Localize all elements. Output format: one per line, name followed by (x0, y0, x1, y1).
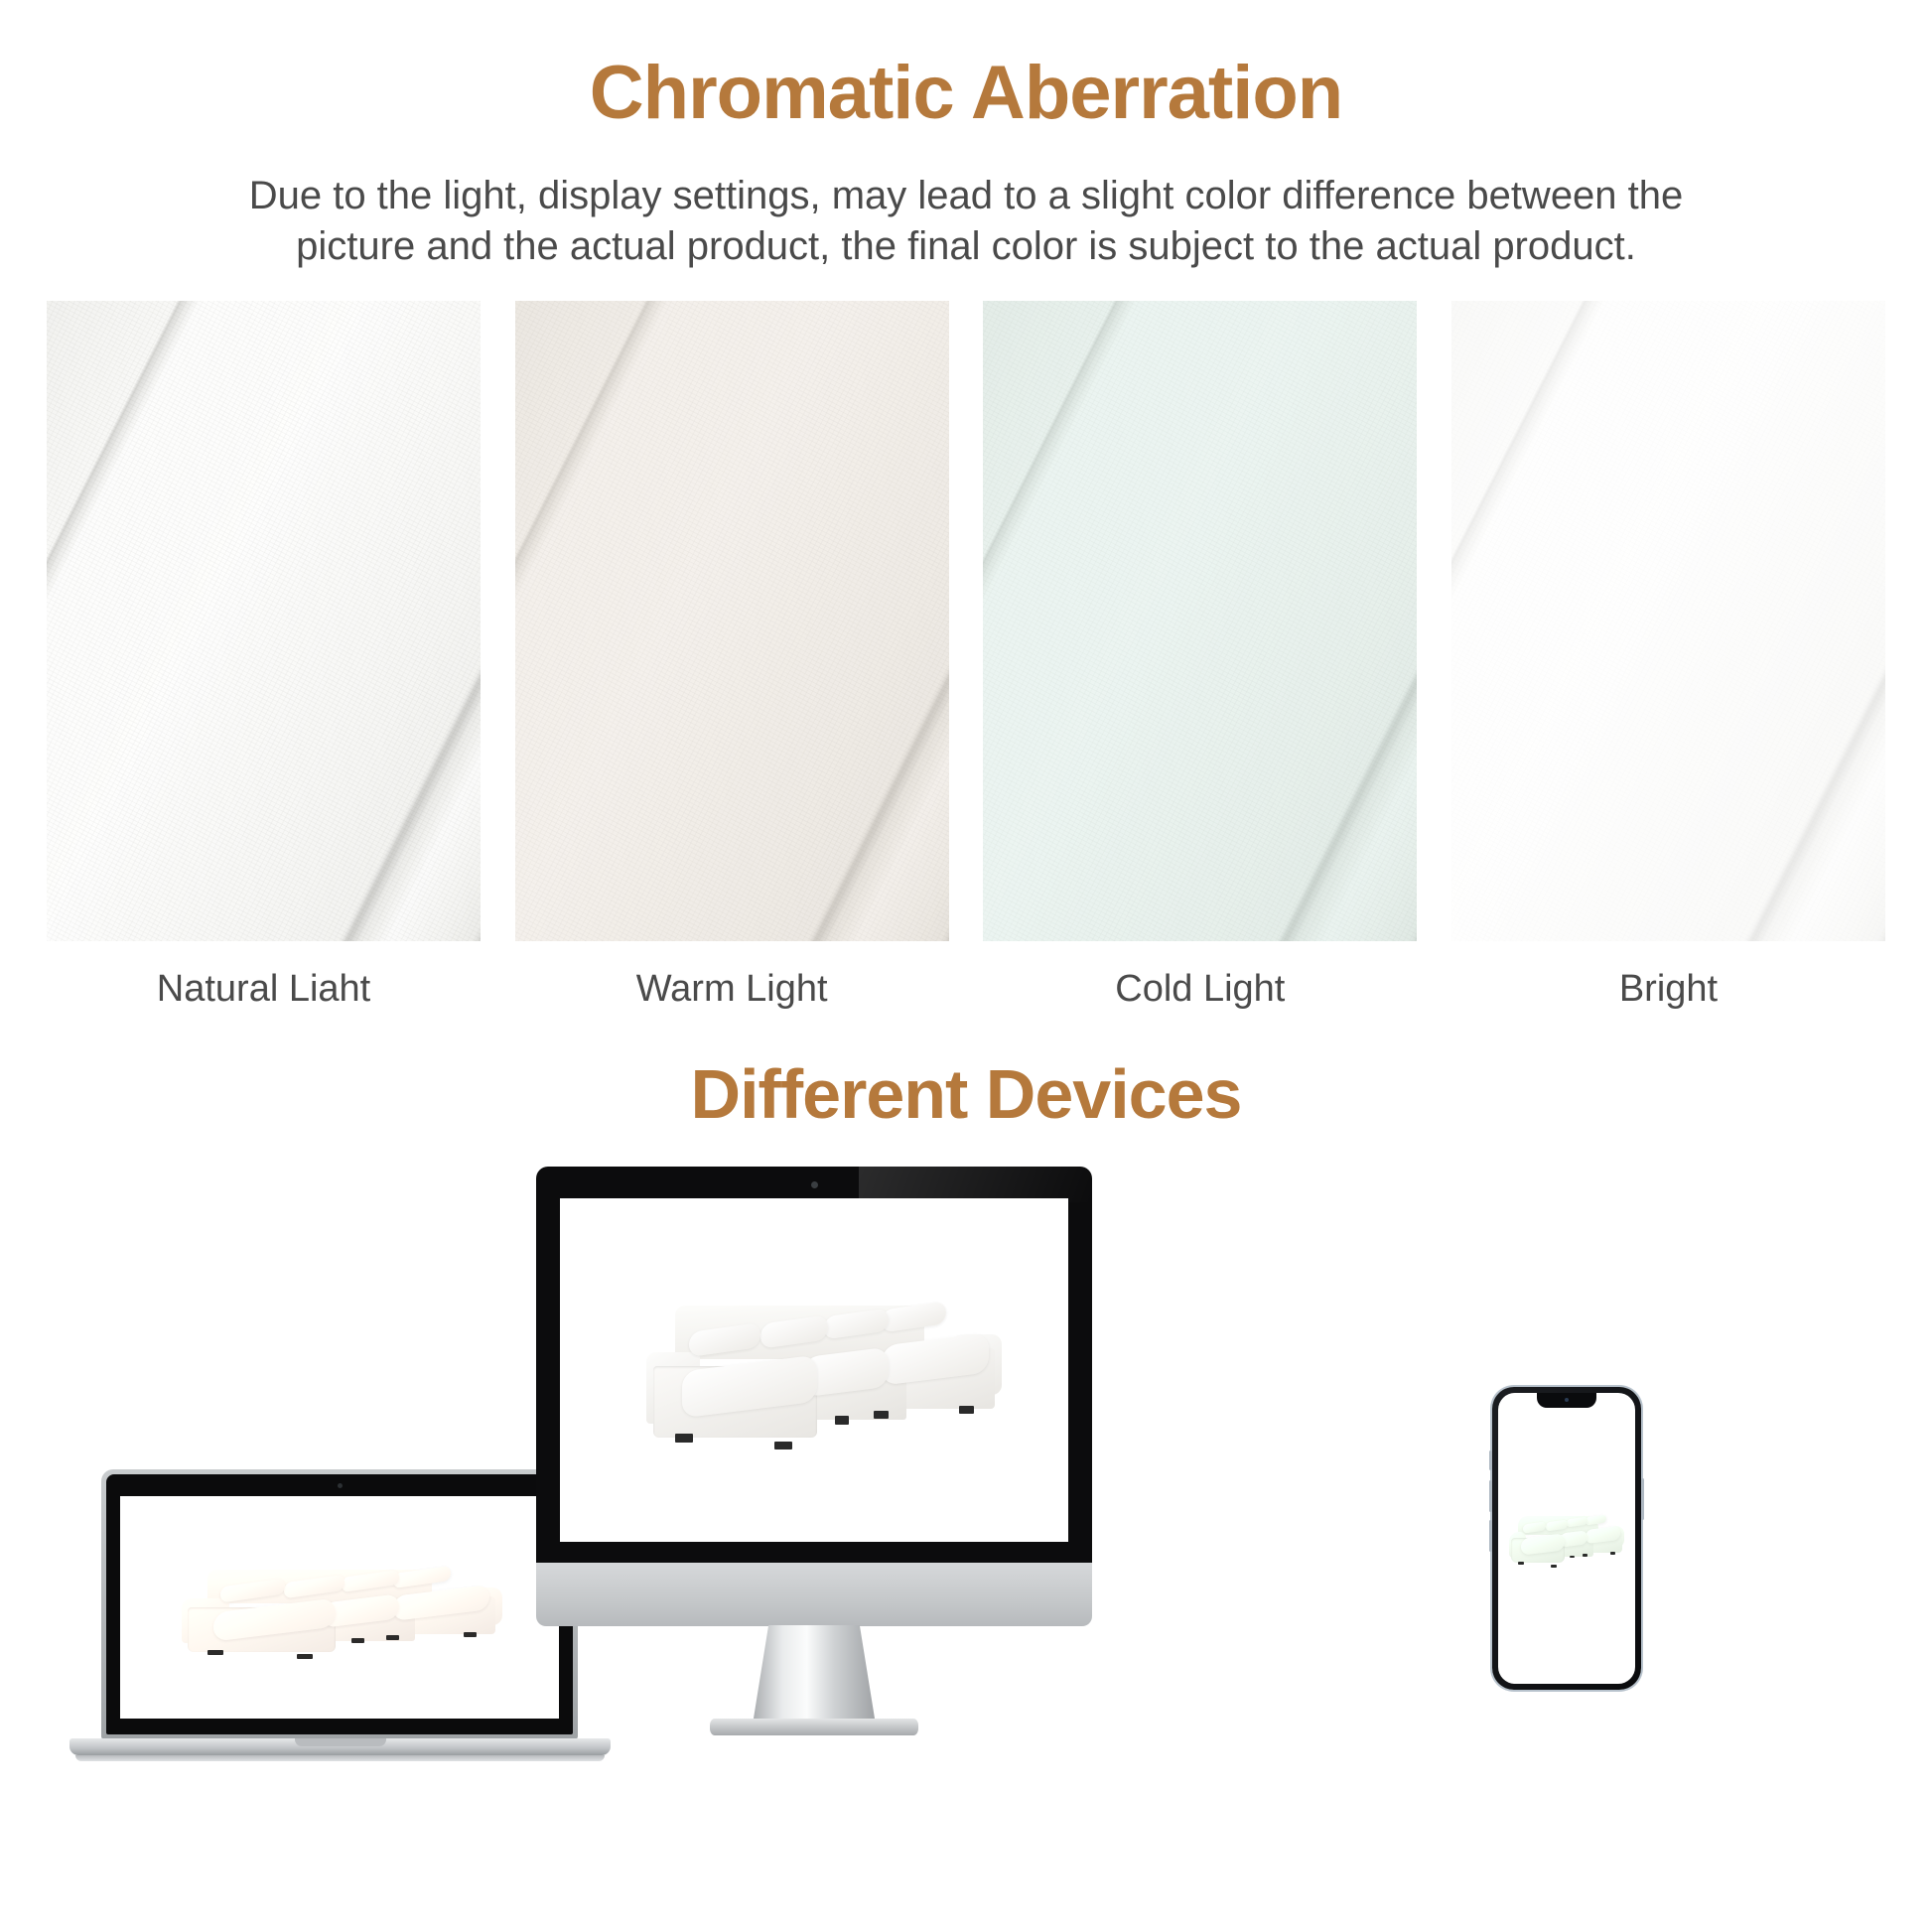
phone-screen (1498, 1393, 1635, 1684)
color-cast-overlay (1451, 301, 1885, 941)
phone-mute-switch[interactable] (1489, 1450, 1492, 1470)
swatch-label-warm-light: Warm Light (515, 968, 949, 1011)
laptop-trackpad-notch (295, 1738, 386, 1746)
monitor-stand-base (710, 1719, 918, 1735)
webcam-icon (811, 1181, 818, 1188)
laptop-screen (120, 1496, 559, 1719)
swatch-label-natural-light: Natural Liaht (47, 968, 481, 1011)
swatch-cold-light: Cold Light (983, 301, 1417, 941)
fabric-photo-warm-light (515, 301, 949, 941)
screen-glare (859, 1167, 1092, 1202)
swatch-label-cold-light: Cold Light (983, 968, 1417, 1011)
device-monitor (536, 1167, 1092, 1842)
description-line-1: Due to the light, display settings, may … (139, 171, 1793, 221)
laptop-foot (75, 1755, 605, 1761)
section-title-different-devices: Different Devices (0, 1054, 1932, 1134)
light-condition-swatch-row: Natural Liaht Warm Light Cold Light (47, 301, 1885, 941)
device-mockup-row (0, 1167, 1932, 1842)
front-camera-icon (1565, 1398, 1569, 1402)
monitor-stand-neck (753, 1625, 876, 1725)
phone-volume-up-button[interactable] (1489, 1480, 1492, 1512)
swatch-bright: Bright (1451, 301, 1885, 941)
page-title-chromatic-aberration: Chromatic Aberration (0, 50, 1932, 136)
device-phone (1492, 1387, 1641, 1690)
fabric-photo-natural-light (47, 301, 481, 941)
swatch-natural-light: Natural Liaht (47, 301, 481, 941)
swatch-label-bright: Bright (1451, 968, 1885, 1011)
color-cast-overlay (515, 301, 949, 941)
monitor-screen (560, 1198, 1068, 1542)
phone-volume-down-button[interactable] (1489, 1520, 1492, 1552)
monitor-bezel (536, 1167, 1092, 1564)
fabric-photo-bright (1451, 301, 1885, 941)
description-line-2: picture and the actual product, the fina… (139, 221, 1793, 272)
phone-power-button[interactable] (1641, 1478, 1644, 1520)
swatch-warm-light: Warm Light (515, 301, 949, 941)
fabric-photo-cold-light (983, 301, 1417, 941)
chromatic-aberration-description: Due to the light, display settings, may … (139, 171, 1793, 272)
laptop-bezel (106, 1474, 573, 1734)
laptop-lid (101, 1469, 578, 1739)
color-cast-overlay (983, 301, 1417, 941)
product-image-sofa-phone (1509, 1509, 1624, 1573)
monitor-chin (536, 1563, 1092, 1626)
product-image-sofa-laptop (182, 1559, 502, 1670)
color-cast-overlay (47, 301, 481, 941)
webcam-icon (338, 1483, 343, 1488)
product-image-sofa-monitor (646, 1288, 1002, 1466)
infographic-page: Chromatic Aberration Due to the light, d… (0, 0, 1932, 1932)
device-laptop (69, 1469, 611, 1797)
